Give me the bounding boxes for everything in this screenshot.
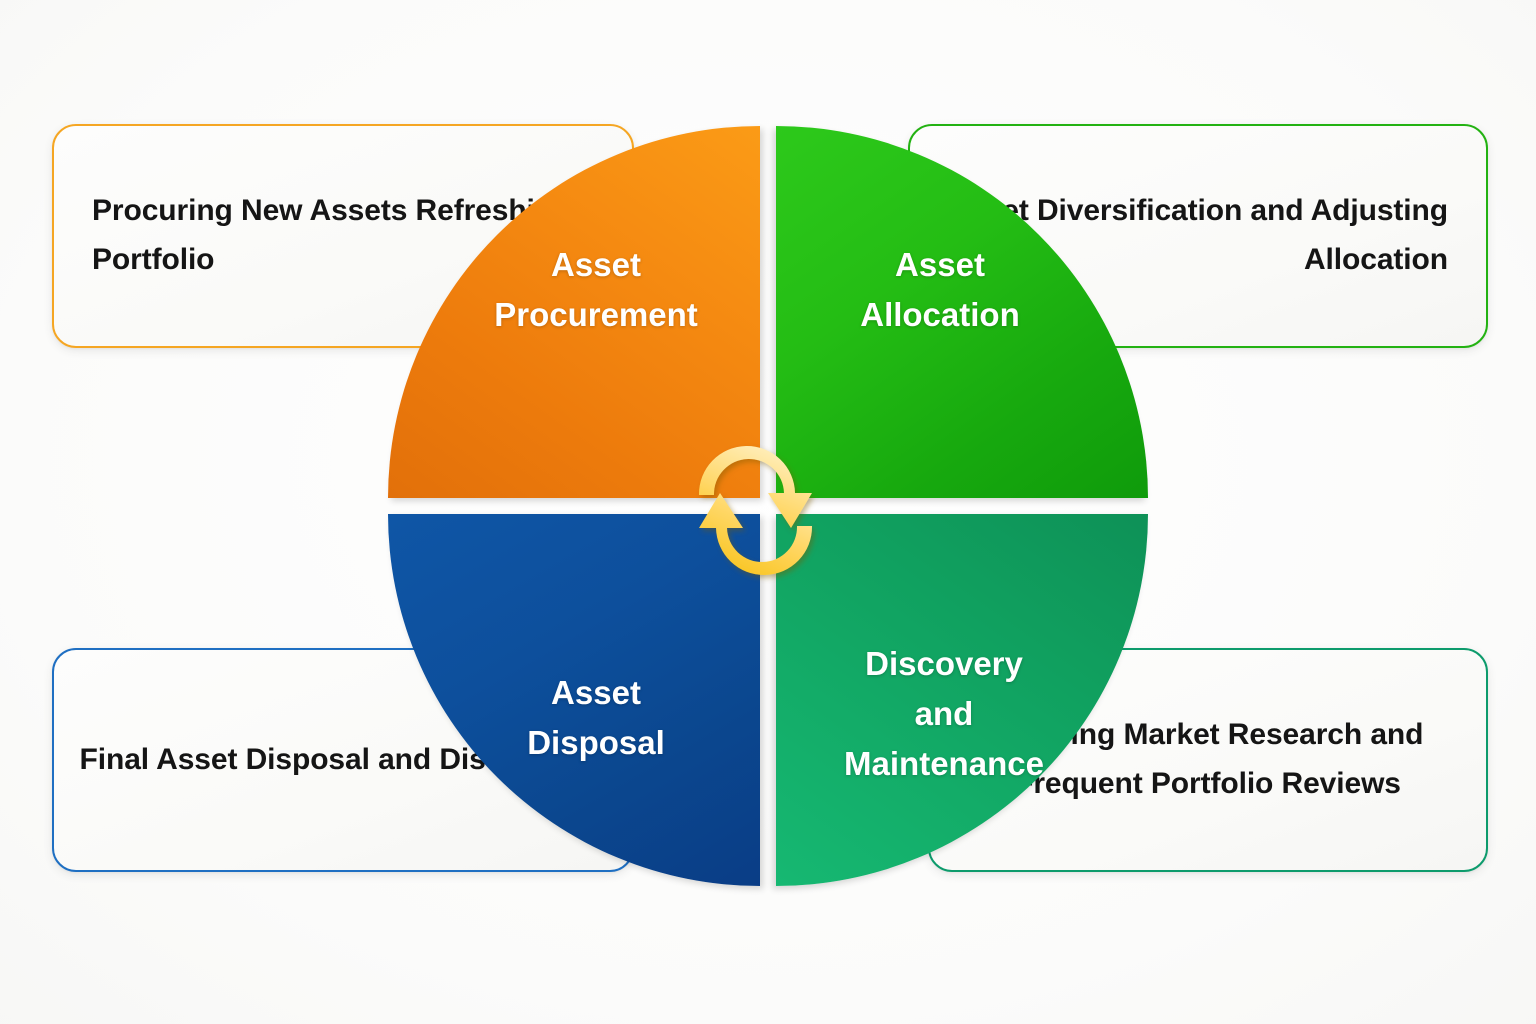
quadrant-asset-disposal-label: Asset Disposal <box>527 668 665 768</box>
quadrant-asset-allocation-label: Asset Allocation <box>860 240 1020 340</box>
diagram-canvas: Procuring New Assets Refreshing Portfoli… <box>0 0 1536 1024</box>
quadrant-discovery-and-maintenance-label: Discovery and Maintenance <box>844 639 1044 789</box>
quadrant-discovery-and-maintenance[interactable]: Discovery and Maintenance <box>776 514 1148 886</box>
cycle-wheel: Asset Procurement Asset Allocation Asset… <box>388 126 1148 886</box>
quadrant-asset-procurement[interactable]: Asset Procurement <box>388 126 760 498</box>
quadrant-asset-allocation[interactable]: Asset Allocation <box>776 126 1148 498</box>
quadrant-asset-procurement-label: Asset Procurement <box>494 240 698 340</box>
quadrant-asset-disposal[interactable]: Asset Disposal <box>388 514 760 886</box>
